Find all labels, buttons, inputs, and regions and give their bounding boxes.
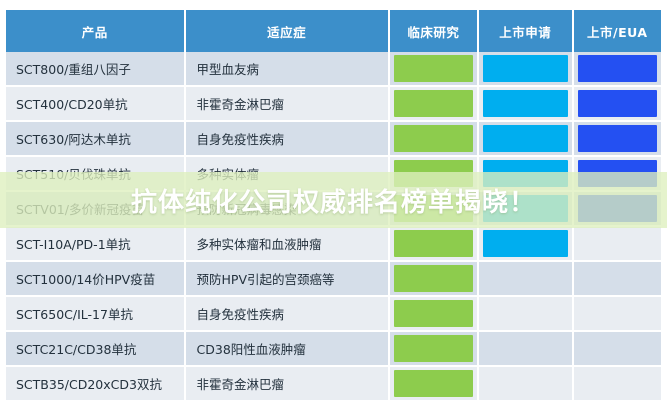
status-bar-clinical [394, 370, 473, 397]
screenshot-root: 产品 适应症 临床研究 上市申请 上市/EUA SCT800/重组八因子甲型血友… [0, 0, 667, 400]
status-bar-approved [578, 335, 657, 362]
cell-indication: 自身免疫性疾病 [186, 297, 390, 332]
status-bar-clinical [394, 230, 473, 257]
cell-marketing-application [479, 262, 574, 297]
status-bar-approved [578, 195, 657, 222]
indication-name: 多种实体瘤和血液肿瘤 [186, 234, 388, 253]
cell-product: SCT800/重组八因子 [6, 52, 186, 87]
status-bar-approved [578, 265, 657, 292]
cell-marketing-application [479, 192, 574, 227]
status-bar-approved [578, 160, 657, 187]
cell-product: SCT510/贝伐珠单抗 [6, 157, 186, 192]
cell-clinical-study [390, 332, 479, 367]
indication-name: 预防新冠病毒感染 [186, 199, 388, 218]
table-row: SCT1000/14价HPV疫苗预防HPV引起的宫颈癌等 [6, 262, 661, 297]
cell-indication: 非霍奇金淋巴瘤 [186, 367, 390, 400]
indication-name: 自身免疫性疾病 [186, 304, 388, 323]
cell-approved-eua [574, 192, 661, 227]
col-product: 产品 [6, 10, 186, 52]
status-bar-application [483, 335, 568, 362]
pipeline-table: 产品 适应症 临床研究 上市申请 上市/EUA SCT800/重组八因子甲型血友… [6, 10, 661, 400]
product-name: SCT400/CD20单抗 [6, 94, 184, 113]
cell-approved-eua [574, 122, 661, 157]
product-name: SCT630/阿达木单抗 [6, 129, 184, 148]
table-body: SCT800/重组八因子甲型血友病SCT400/CD20单抗非霍奇金淋巴瘤SCT… [6, 52, 661, 400]
product-name: SCTB35/CD20xCD3双抗 [6, 374, 184, 393]
status-bar-approved [578, 125, 657, 152]
status-bar-application [483, 125, 568, 152]
cell-approved-eua [574, 367, 661, 400]
table-row: SCT400/CD20单抗非霍奇金淋巴瘤 [6, 87, 661, 122]
status-bar-clinical [394, 265, 473, 292]
status-bar-clinical [394, 90, 473, 117]
status-bar-clinical [394, 195, 473, 222]
cell-marketing-application [479, 157, 574, 192]
cell-marketing-application [479, 52, 574, 87]
indication-name: 预防HPV引起的宫颈癌等 [186, 269, 388, 288]
indication-name: 自身免疫性疾病 [186, 129, 388, 148]
status-bar-approved [578, 300, 657, 327]
cell-product: SCTC21C/CD38单抗 [6, 332, 186, 367]
status-bar-approved [578, 55, 657, 82]
cell-clinical-study [390, 52, 479, 87]
product-name: SCT-I10A/PD-1单抗 [6, 234, 184, 253]
indication-name: 非霍奇金淋巴瘤 [186, 374, 388, 393]
cell-clinical-study [390, 122, 479, 157]
product-name: SCT800/重组八因子 [6, 59, 184, 78]
status-bar-clinical [394, 335, 473, 362]
status-bar-application [483, 265, 568, 292]
col-clinical-study: 临床研究 [390, 10, 479, 52]
cell-marketing-application [479, 367, 574, 400]
indication-name: CD38阳性血液肿瘤 [186, 339, 388, 358]
cell-clinical-study [390, 297, 479, 332]
indication-name: 非霍奇金淋巴瘤 [186, 94, 388, 113]
product-name: SCT650C/IL-17单抗 [6, 304, 184, 323]
status-bar-application [483, 230, 568, 257]
table-row: SCT800/重组八因子甲型血友病 [6, 52, 661, 87]
cell-approved-eua [574, 227, 661, 262]
status-bar-clinical [394, 55, 473, 82]
cell-product: SCT400/CD20单抗 [6, 87, 186, 122]
col-marketing-application: 上市申请 [479, 10, 574, 52]
cell-approved-eua [574, 297, 661, 332]
cell-product: SCT1000/14价HPV疫苗 [6, 262, 186, 297]
cell-clinical-study [390, 262, 479, 297]
cell-product: SCTB35/CD20xCD3双抗 [6, 367, 186, 400]
indication-name: 多种实体瘤 [186, 164, 388, 183]
table-row: SCTB35/CD20xCD3双抗非霍奇金淋巴瘤 [6, 367, 661, 400]
cell-indication: 非霍奇金淋巴瘤 [186, 87, 390, 122]
cell-approved-eua [574, 52, 661, 87]
cell-clinical-study [390, 157, 479, 192]
status-bar-application [483, 370, 568, 397]
indication-name: 甲型血友病 [186, 59, 388, 78]
status-bar-application [483, 300, 568, 327]
cell-approved-eua [574, 157, 661, 192]
cell-clinical-study [390, 87, 479, 122]
status-bar-clinical [394, 160, 473, 187]
status-bar-application [483, 195, 568, 222]
cell-indication: 甲型血友病 [186, 52, 390, 87]
cell-product: SCTV01/多价新冠疫苗 [6, 192, 186, 227]
product-name: SCT1000/14价HPV疫苗 [6, 269, 184, 288]
col-approved-eua: 上市/EUA [574, 10, 661, 52]
status-bar-approved [578, 90, 657, 117]
table-row: SCT630/阿达木单抗自身免疫性疾病 [6, 122, 661, 157]
cell-indication: 多种实体瘤和血液肿瘤 [186, 227, 390, 262]
cell-indication: CD38阳性血液肿瘤 [186, 332, 390, 367]
table-row: SCTC21C/CD38单抗CD38阳性血液肿瘤 [6, 332, 661, 367]
cell-approved-eua [574, 262, 661, 297]
table-row: SCT650C/IL-17单抗自身免疫性疾病 [6, 297, 661, 332]
cell-clinical-study [390, 192, 479, 227]
cell-clinical-study [390, 367, 479, 400]
cell-indication: 自身免疫性疾病 [186, 122, 390, 157]
cell-marketing-application [479, 297, 574, 332]
cell-approved-eua [574, 87, 661, 122]
cell-marketing-application [479, 122, 574, 157]
cell-approved-eua [574, 332, 661, 367]
status-bar-approved [578, 230, 657, 257]
cell-clinical-study [390, 227, 479, 262]
cell-marketing-application [479, 227, 574, 262]
cell-product: SCT630/阿达木单抗 [6, 122, 186, 157]
product-name: SCT510/贝伐珠单抗 [6, 164, 184, 183]
status-bar-application [483, 90, 568, 117]
status-bar-approved [578, 370, 657, 397]
cell-product: SCT650C/IL-17单抗 [6, 297, 186, 332]
table-header-row: 产品 适应症 临床研究 上市申请 上市/EUA [6, 10, 661, 52]
status-bar-clinical [394, 125, 473, 152]
status-bar-clinical [394, 300, 473, 327]
cell-marketing-application [479, 332, 574, 367]
cell-product: SCT-I10A/PD-1单抗 [6, 227, 186, 262]
product-name: SCTC21C/CD38单抗 [6, 339, 184, 358]
cell-indication: 预防HPV引起的宫颈癌等 [186, 262, 390, 297]
col-indication: 适应症 [186, 10, 390, 52]
table-row: SCT-I10A/PD-1单抗多种实体瘤和血液肿瘤 [6, 227, 661, 262]
table-row: SCT510/贝伐珠单抗多种实体瘤 [6, 157, 661, 192]
status-bar-application [483, 160, 568, 187]
table-header: 产品 适应症 临床研究 上市申请 上市/EUA [6, 10, 661, 52]
cell-marketing-application [479, 87, 574, 122]
product-name: SCTV01/多价新冠疫苗 [6, 199, 184, 218]
cell-indication: 多种实体瘤 [186, 157, 390, 192]
status-bar-application [483, 55, 568, 82]
cell-indication: 预防新冠病毒感染 [186, 192, 390, 227]
table-row: SCTV01/多价新冠疫苗预防新冠病毒感染 [6, 192, 661, 227]
